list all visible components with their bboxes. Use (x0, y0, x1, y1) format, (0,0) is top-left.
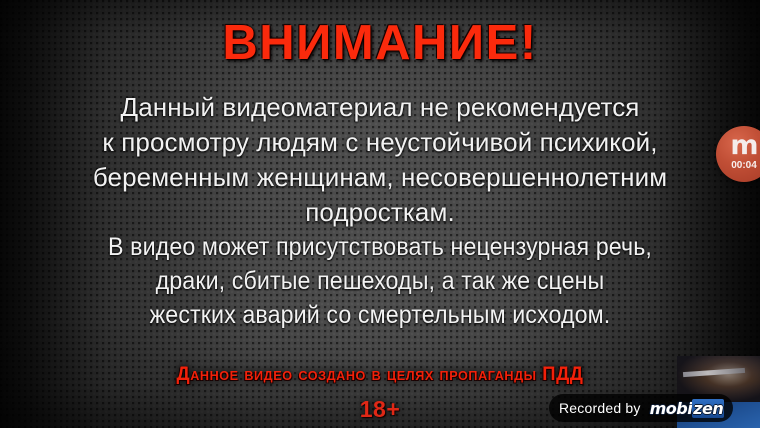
warning-line-6: драки, сбитые пешеходы, а так же сцены (27, 264, 734, 298)
mobizen-brand-logo: mobizen (647, 398, 728, 419)
warning-headline: ВНИМАНИЕ! (0, 19, 760, 68)
mobizen-logo-icon: m (716, 129, 760, 163)
warning-line-3: беременным женщинам, несовершеннолетним (0, 160, 760, 195)
warning-line-7: жестких аварий со смертельным исходом. (27, 298, 734, 332)
mobizen-brand-accent: zen (692, 399, 724, 418)
warning-body-block: Данный видеоматериал не рекомендуется к … (0, 90, 760, 332)
warning-line-5: В видео может присутствовать нецензурная… (27, 230, 734, 264)
watermark-prefix-label: Recorded by (559, 400, 641, 416)
warning-line-2: к просмотру людям с неустойчивой психико… (0, 125, 760, 160)
warning-line-1: Данный видеоматериал не рекомендуется (0, 90, 760, 125)
recording-elapsed-time: 00:04 (716, 160, 760, 171)
mobizen-brand-main: mobi (650, 399, 693, 418)
warning-line-4: подросткам. (0, 195, 760, 230)
propaganda-banner-text: Данное видео создано в целях пропаганды … (11, 364, 748, 386)
video-warning-screen: ВНИМАНИЕ! Данный видеоматериал не рекоме… (0, 0, 760, 428)
recorded-by-watermark: Recorded by mobizen (549, 394, 733, 422)
